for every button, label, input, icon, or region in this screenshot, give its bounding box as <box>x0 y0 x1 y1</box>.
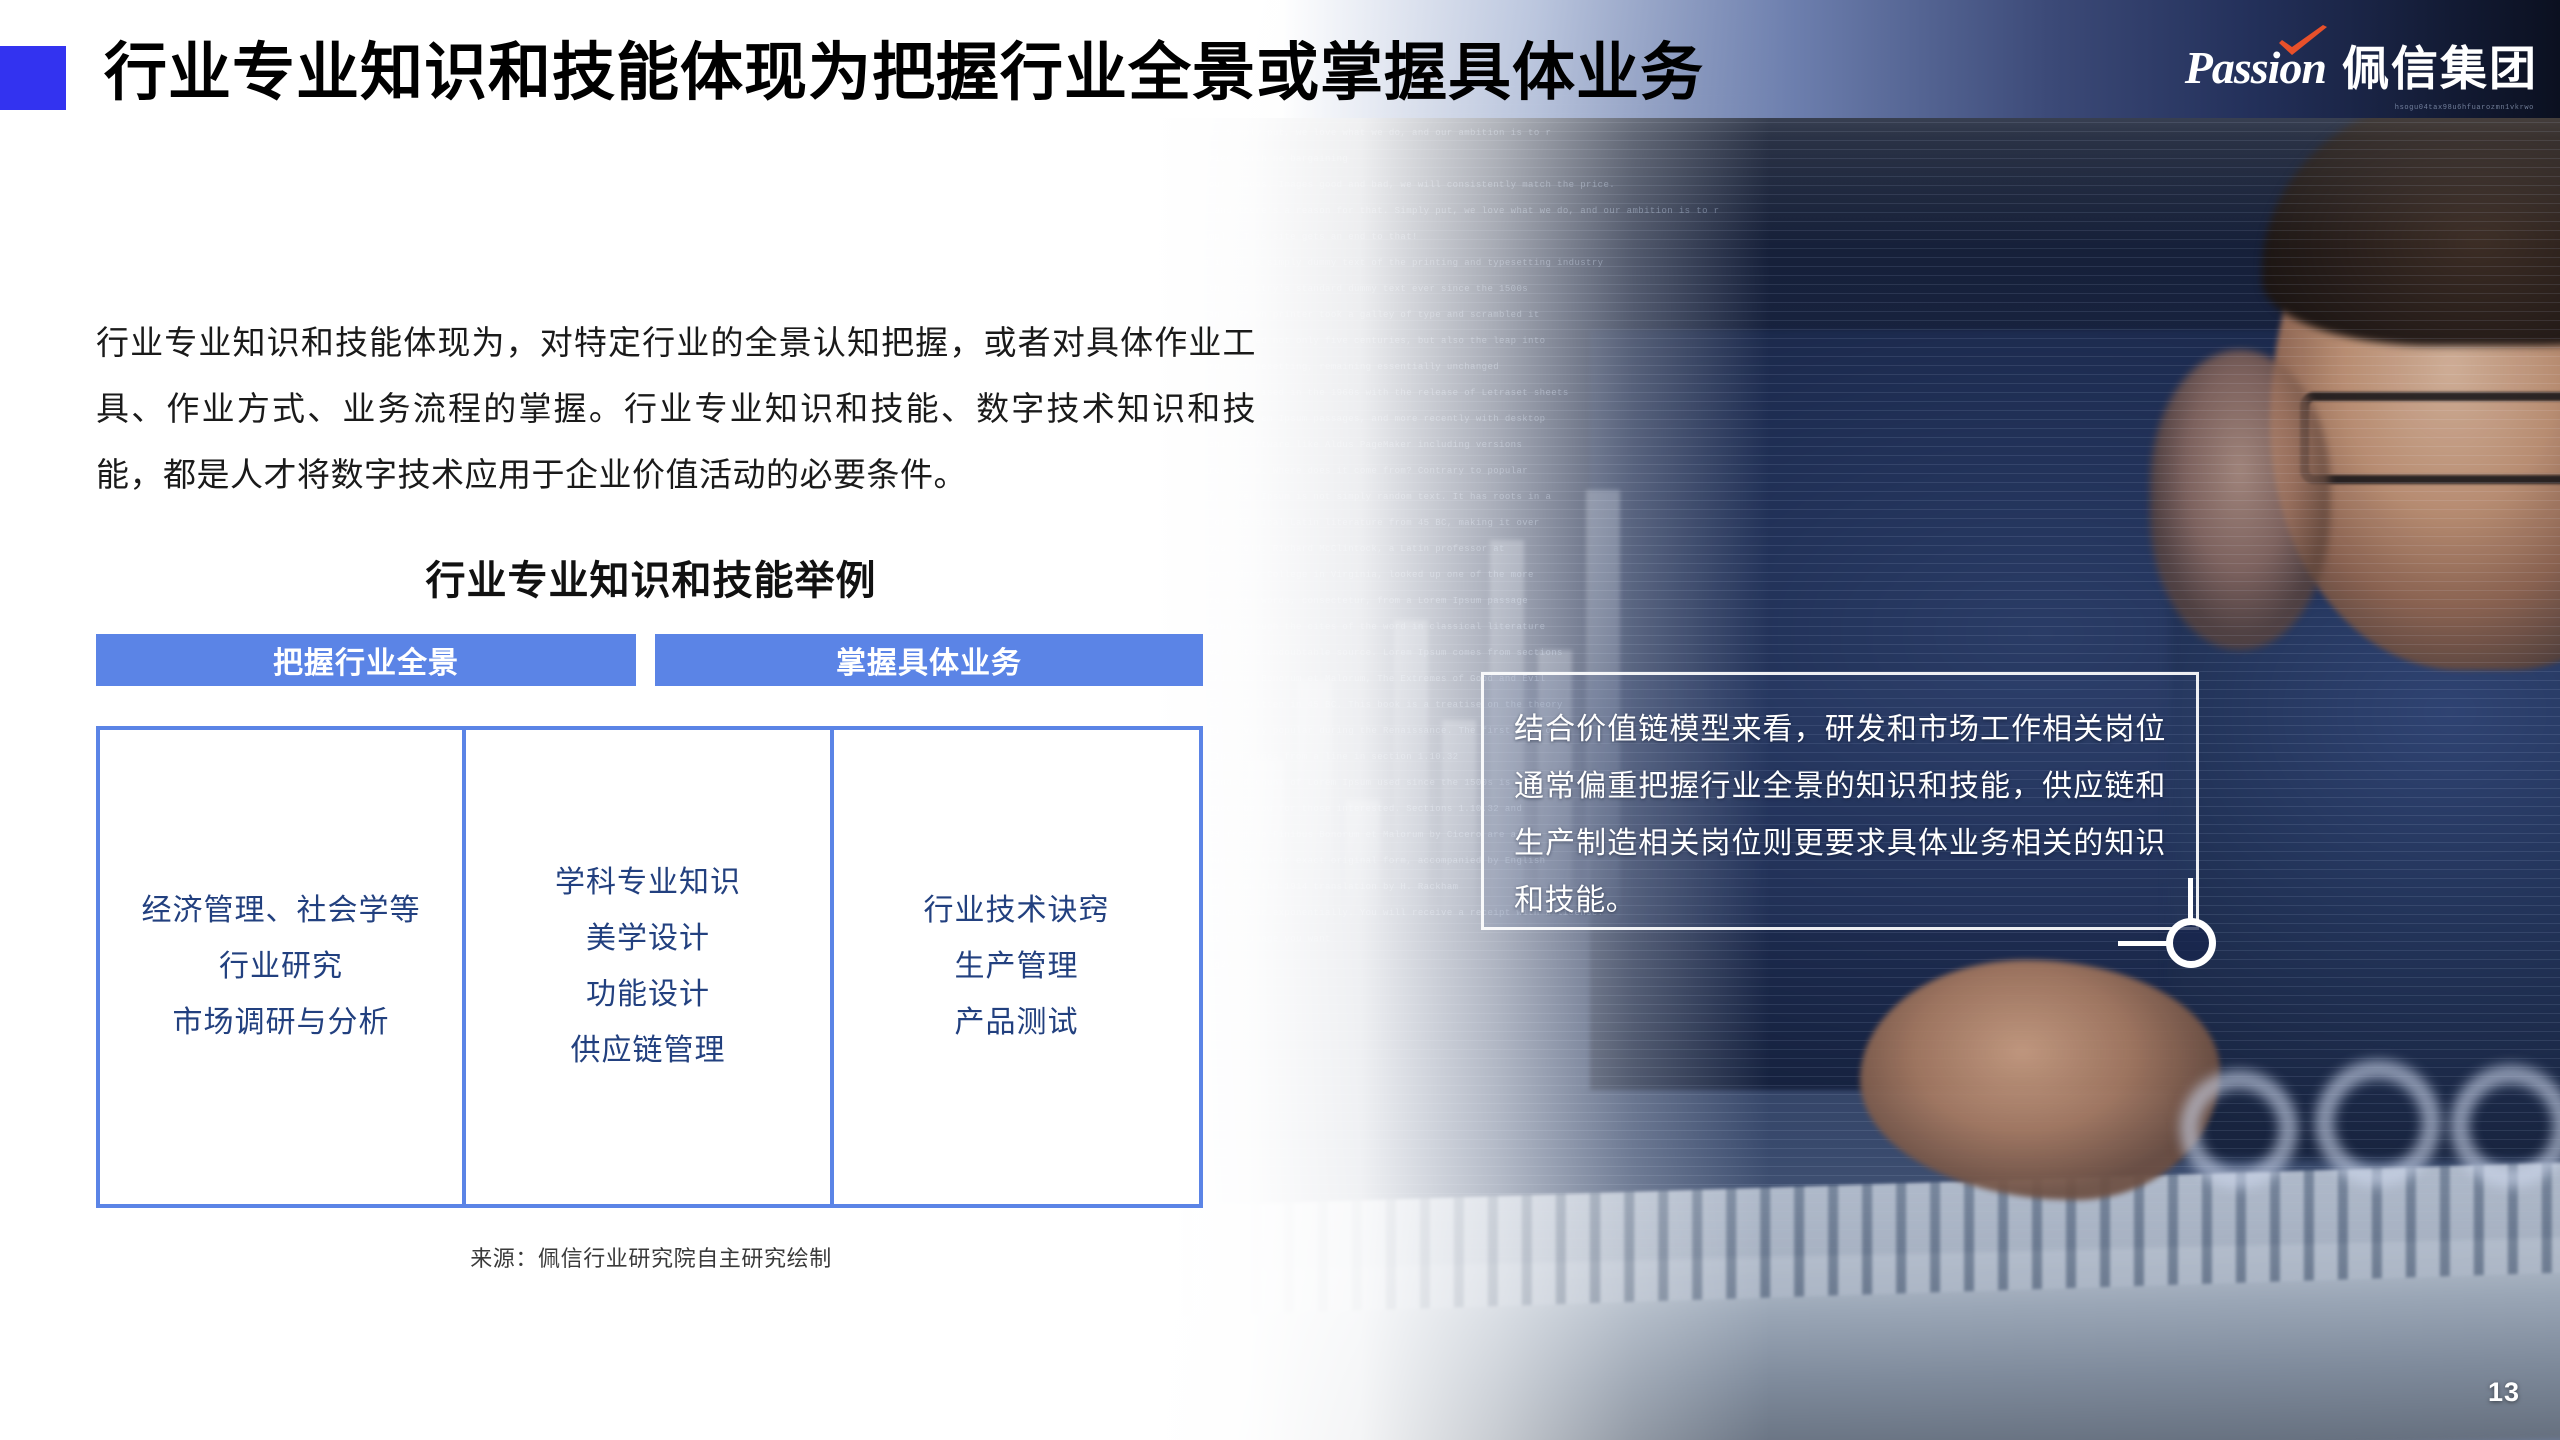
table-column-3: 行业技术诀窍 生产管理 产品测试 <box>834 730 1199 1204</box>
slide-root: images. Simply put, we love what we do, … <box>0 0 2560 1440</box>
logo-latin-text: Passion <box>2185 45 2326 91</box>
table-cell: 行业技术诀窍 <box>924 883 1110 939</box>
table-cell: 产品测试 <box>955 995 1079 1051</box>
table-cell: 市场调研与分析 <box>173 995 390 1051</box>
callout-leader-horizontal <box>2118 941 2170 946</box>
examples-table: 经济管理、社会学等 行业研究 市场调研与分析 学科专业知识 美学设计 功能设计 … <box>96 726 1203 1208</box>
table-cell: 美学设计 <box>586 911 710 967</box>
source-note: 来源：佩信行业研究院自主研究绘制 <box>96 1241 1206 1273</box>
body-paragraph: 行业专业知识和技能体现为，对特定行业的全景认知把握，或者对具体作业工具、作业方式… <box>96 310 1256 508</box>
table-header-overview: 把握行业全景 <box>96 634 636 686</box>
page-title: 行业专业知识和技能体现为把握行业全景或掌握具体业务 <box>104 36 1864 110</box>
logo-chinese-text: 佩信集团 <box>2342 45 2538 92</box>
logo-watermark-text: hsogu04tax98u6hfuarozmn1vkrwo <box>2234 104 2534 112</box>
table-column-2: 学科专业知识 美学设计 功能设计 供应链管理 <box>466 730 834 1204</box>
bokeh-ring-icon <box>2315 1060 2441 1186</box>
table-cell: 功能设计 <box>586 967 710 1023</box>
eyeglasses-icon <box>2300 392 2560 484</box>
bokeh-ring-icon <box>2180 1070 2298 1188</box>
table-cell: 生产管理 <box>955 939 1079 995</box>
table-cell: 学科专业知识 <box>555 855 741 911</box>
table-header-specific: 掌握具体业务 <box>655 634 1203 686</box>
table-title: 行业专业知识和技能举例 <box>96 548 1206 606</box>
table-cell: 供应链管理 <box>571 1023 726 1079</box>
table-cell: 行业研究 <box>219 939 343 995</box>
header-accent-square <box>0 46 66 110</box>
callout-box: 结合价值链模型来看，研发和市场工作相关岗位通常偏重把握行业全景的知识和技能，供应… <box>1481 672 2199 930</box>
table-cell: 经济管理、社会学等 <box>142 883 421 939</box>
callout-marker-circle <box>2166 918 2216 968</box>
photo-raised-hand-shape <box>2150 350 2330 650</box>
callout-text: 结合价值链模型来看，研发和市场工作相关岗位通常偏重把握行业全景的知识和技能，供应… <box>1514 701 2166 929</box>
bokeh-ring-icon <box>2450 1065 2560 1187</box>
table-column-1: 经济管理、社会学等 行业研究 市场调研与分析 <box>100 730 466 1204</box>
page-number: 13 <box>2488 1377 2520 1408</box>
callout-leader-vertical <box>2188 878 2193 922</box>
brand-logo: Passion 佩信集团 <box>2185 40 2538 96</box>
